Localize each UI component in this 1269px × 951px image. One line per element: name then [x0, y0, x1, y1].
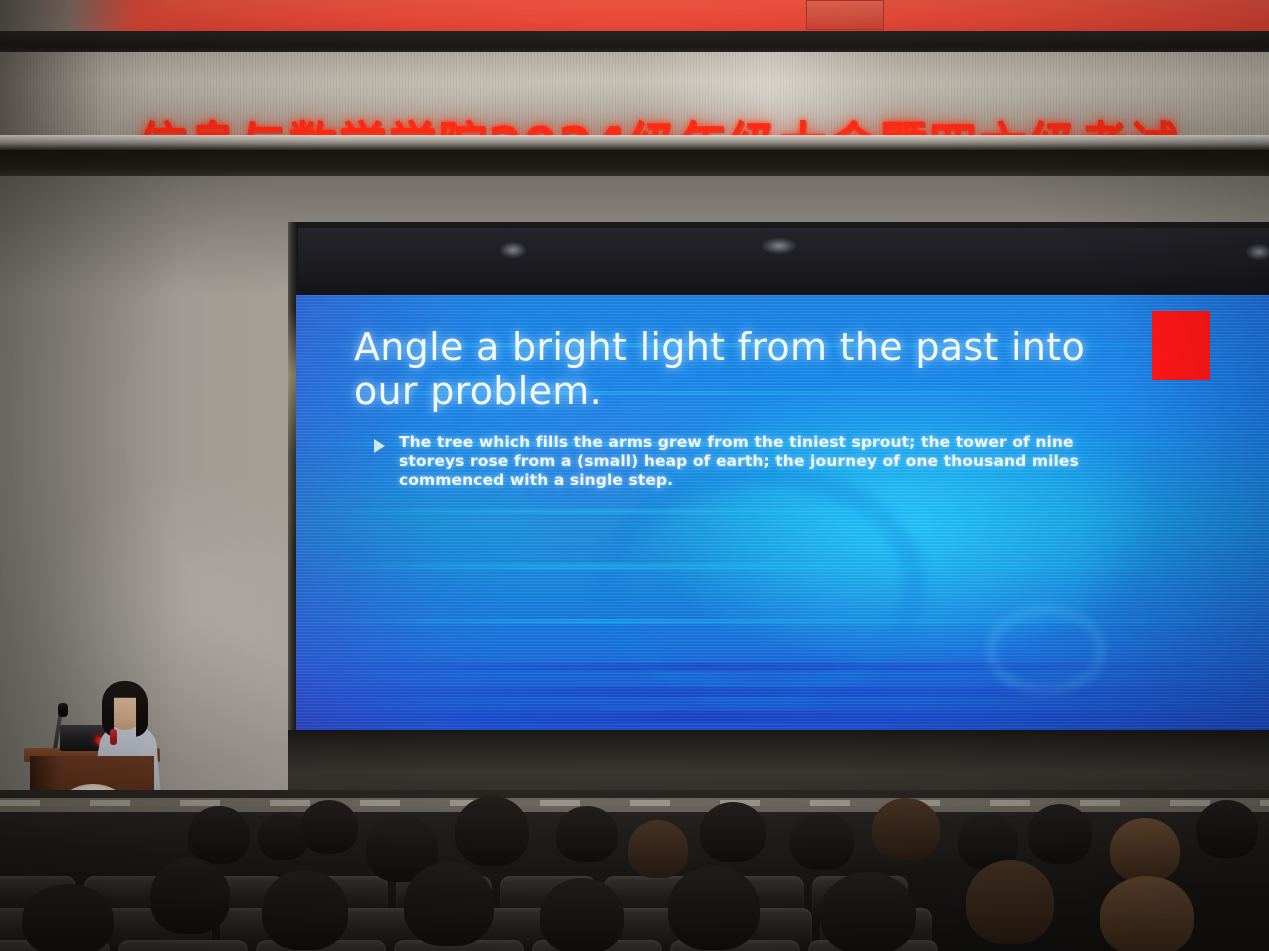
banner-panel: 信息与数学学院2024级年级大会暨四六级考试 — [0, 52, 1269, 136]
slide-bullet-row: The tree which fills the arms grew from … — [374, 433, 1084, 490]
bezel-reflection-icon — [1246, 244, 1269, 260]
audience-head — [1028, 804, 1092, 864]
bezel-reflection-icon — [762, 238, 796, 254]
audience-head — [1196, 800, 1258, 858]
audience-head — [966, 860, 1054, 944]
audience-head — [404, 862, 494, 946]
slide-bullet-text: The tree which fills the arms grew from … — [399, 433, 1084, 490]
audience-head — [556, 806, 618, 862]
banner-shadow-left — [0, 52, 150, 136]
led-screen-top-bezel — [292, 228, 1269, 296]
audience-head — [872, 798, 940, 860]
audience-head — [1110, 818, 1180, 882]
banner-title: 信息与数学学院2024级年级大会暨四六级考试 — [138, 107, 1178, 136]
audience-head — [150, 858, 230, 934]
microphone-icon — [58, 703, 68, 717]
audience-head — [22, 884, 114, 951]
audience-head — [188, 806, 250, 864]
auditorium-seat — [118, 940, 248, 951]
audience-head — [262, 870, 348, 950]
bezel-reflection-icon — [500, 242, 526, 258]
audience-head — [540, 878, 624, 951]
slide-title: Angle a bright light from the past into … — [354, 325, 1154, 413]
auditorium-photo: 信息与数学学院2024级年级大会暨四六级考试 Angle a bright li… — [0, 0, 1269, 951]
audience-head — [700, 802, 766, 862]
ceiling-vent-icon — [806, 0, 884, 30]
audience-head — [300, 800, 358, 854]
handheld-microphone-icon — [110, 729, 117, 745]
audience-head — [790, 812, 854, 870]
audience-head — [628, 820, 688, 878]
slide-accent-square — [1152, 311, 1210, 380]
audience-head — [820, 872, 916, 951]
audience-head — [455, 796, 529, 866]
led-screen-edge-gloss — [288, 310, 296, 570]
audience-head — [1100, 876, 1194, 951]
presentation-slide: Angle a bright light from the past into … — [296, 295, 1269, 733]
audience-head — [668, 866, 760, 950]
bullet-triangle-icon — [374, 439, 385, 453]
